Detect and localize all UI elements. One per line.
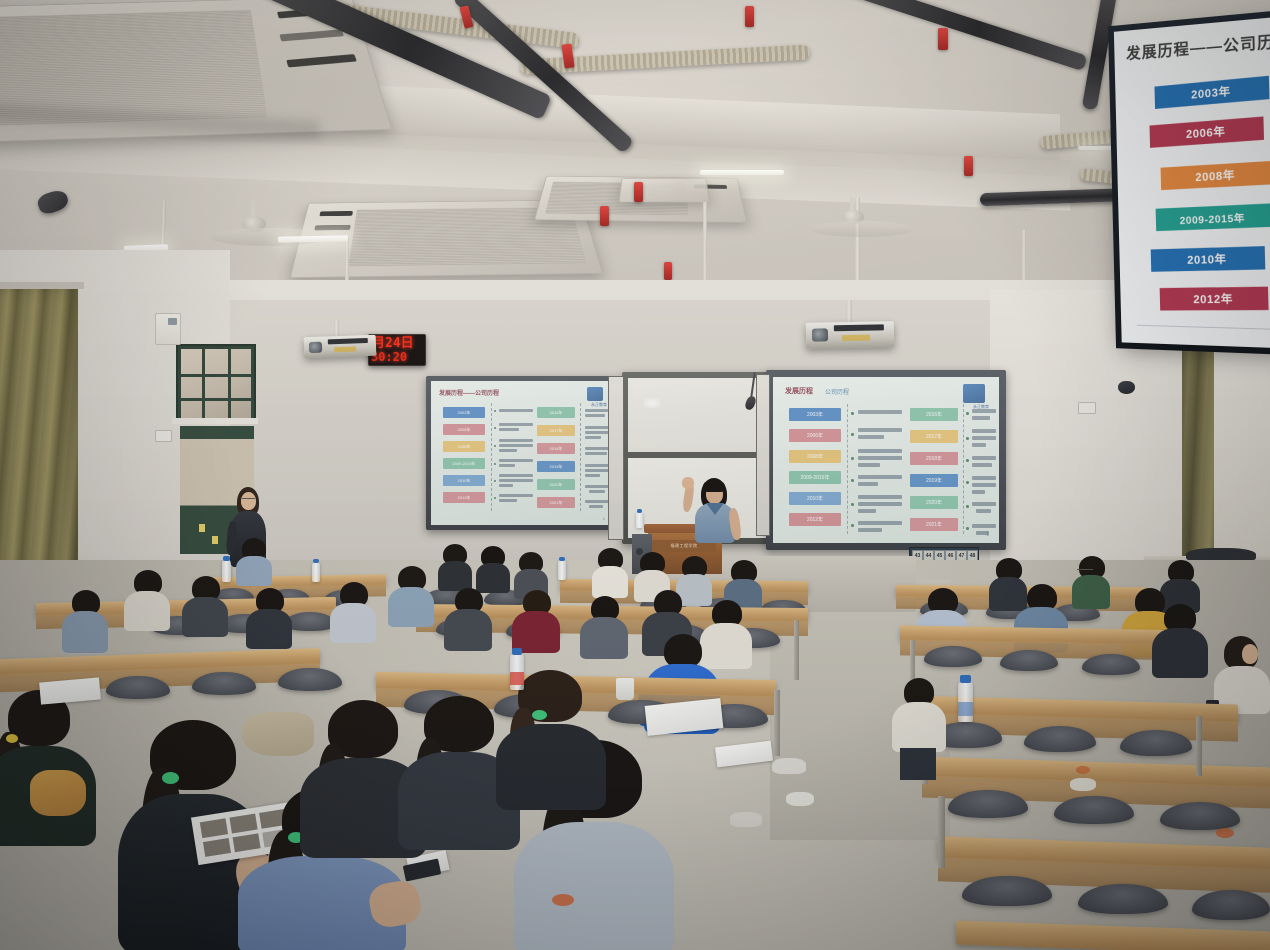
left-bullet-1b <box>499 428 519 431</box>
right-chip-1: 2006年 <box>789 429 841 442</box>
tv-slide: 发展历程——公司历 2003年 2006年 2008年 2009-2015年 2… <box>1114 17 1270 349</box>
student-mid-3 <box>182 576 228 634</box>
left-slide-title: 发展历程——公司历程 <box>439 388 499 397</box>
right-bullet-5a <box>858 521 902 525</box>
student-mid-2 <box>124 570 170 628</box>
right-bullet-4a <box>858 495 902 499</box>
tv-slide-title: 发展历程——公司历 <box>1126 30 1270 64</box>
left-bullet-5b <box>499 499 517 502</box>
right-rtext-3a <box>972 476 996 480</box>
student-mid-1 <box>62 590 108 650</box>
left-slide-logo-label: 永正教育 <box>591 402 607 408</box>
right-slide-rchip-3: 2019年 <box>910 474 958 487</box>
pipe-clamp-3 <box>600 206 609 226</box>
ceiling-ac-unit-rear-right <box>618 178 709 202</box>
paper-cup-center[interactable] <box>616 678 634 700</box>
whiteboard-glare <box>644 398 660 408</box>
right-bullet-dot-4 <box>851 503 854 506</box>
left-rtext-4b <box>589 490 605 493</box>
left-slide-rchip-5: 2021年 <box>537 497 575 508</box>
left-rtext-2b <box>585 452 607 455</box>
right-bullet-2b <box>858 456 902 460</box>
window-right-rear <box>1214 330 1270 580</box>
projector-right-mount <box>846 300 852 322</box>
tv-chip-3: 2009-2015年 <box>1156 204 1270 232</box>
led-time: 30:20 <box>371 351 407 363</box>
hair-tie-green-1 <box>162 772 179 784</box>
desk-leg-6 <box>1196 716 1202 776</box>
desk-leg-5 <box>774 690 780 756</box>
ceiling-light-right <box>700 170 784 175</box>
hair-tie-yellow-1 <box>6 734 18 743</box>
left-chip-5: 2012年 <box>443 492 485 503</box>
left-bullet-4c <box>499 484 513 487</box>
right-chip-3: 2009-2015年 <box>789 471 841 484</box>
right-rtext-5a <box>972 524 996 528</box>
wall-socket-left[interactable] <box>155 430 172 442</box>
left-chip-0: 2003年 <box>443 407 485 418</box>
right-chip-0: 2003年 <box>789 408 841 421</box>
bag-orange-left <box>30 770 86 816</box>
water-bottle-left-wall[interactable] <box>222 560 231 582</box>
seat-mid-8 <box>924 646 982 667</box>
right-bullet-dot-3 <box>851 479 854 482</box>
left-bullet-dot-2 <box>494 445 496 447</box>
right-bullet-0 <box>858 410 902 414</box>
whiteboard-center-upper[interactable] <box>628 378 768 452</box>
left-bullet-0 <box>499 409 533 412</box>
tv-slide-footer-line <box>1137 325 1270 330</box>
right-bullet-3b <box>858 482 878 486</box>
tv-chip-1: 2006年 <box>1150 117 1265 148</box>
right-slide-rchip-1: 2017年 <box>910 430 958 443</box>
right-slide-rchip-4: 2020年 <box>910 496 958 509</box>
sticky-note-2 <box>212 536 218 544</box>
left-bullet-5a <box>499 494 533 497</box>
ceiling-fan-center <box>816 196 912 250</box>
student-mid-8 <box>512 590 560 650</box>
water-bottle-right[interactable] <box>958 682 973 722</box>
right-rtext-dot-3 <box>966 481 969 484</box>
wall-socket-right[interactable] <box>1078 402 1096 414</box>
right-slide-subtitle: 公司历程 <box>825 387 849 396</box>
curtain-rail-left <box>0 282 84 289</box>
right-slide-logo-icon <box>963 384 985 403</box>
projector-right <box>806 321 894 349</box>
right-rtext-dot-0 <box>966 412 969 415</box>
panel-button[interactable] <box>168 318 177 325</box>
desk-leg-3 <box>938 796 945 868</box>
left-slide-rchip-2: 2018年 <box>537 443 575 454</box>
left-slide-rchip-3: 2019年 <box>537 461 575 472</box>
pipe-clamp-7 <box>938 28 948 50</box>
left-bullet-dot-3 <box>494 463 496 465</box>
classroom-photo: 月24日 30:20 发展历程——公司历 2003年 2006年 2008年 2… <box>0 0 1270 950</box>
right-rtext-2b <box>972 463 992 467</box>
tissue-on-floor-2 <box>1070 778 1096 791</box>
left-rtext-5b <box>589 505 603 508</box>
right-bullet-1a <box>858 428 902 432</box>
wall-control-panel[interactable] <box>155 313 181 345</box>
projector-left <box>304 335 377 359</box>
desk-leg-4 <box>794 620 799 680</box>
left-slide: 发展历程——公司历程 永正教育 2003年 2006年 2008年 2009-2… <box>431 381 613 525</box>
led-date: 月24日 <box>372 337 414 350</box>
left-slide-page-marker: 1 <box>603 516 605 521</box>
student-right-2 <box>1072 556 1110 606</box>
student-front-8 <box>1152 604 1208 674</box>
seat-front-r3-2 <box>1078 884 1168 914</box>
projection-screen-right[interactable]: 发展历程 公司历程 永正教育 2003年 2006年 2008年 2009-20… <box>773 377 999 543</box>
right-slide-rchip-0: 2016年 <box>910 408 958 421</box>
ceiling-light-center <box>278 235 348 242</box>
right-bullet-1b <box>858 435 884 439</box>
left-bullet-dot-5 <box>494 497 496 499</box>
student-back-2 <box>438 544 472 588</box>
seat-front-3 <box>278 668 342 691</box>
student-back-3 <box>476 546 510 590</box>
student-right-aisle <box>892 678 946 788</box>
podium-water-bottle <box>636 512 643 528</box>
right-rtext-1b <box>972 436 996 440</box>
right-rtext-4a <box>972 502 996 506</box>
left-bullet-2c <box>499 449 517 452</box>
left-rtext-0b <box>585 414 605 417</box>
tv-panel-bezel: 发展历程——公司历 2003年 2006年 2008年 2009-2015年 2… <box>1108 10 1270 356</box>
right-bullet-4c <box>858 509 876 513</box>
left-bullet-4b <box>499 479 533 482</box>
tv-panel-screen[interactable]: 发展历程——公司历 2003年 2006年 2008年 2009-2015年 2… <box>1114 17 1270 349</box>
right-chip-4: 2010年 <box>789 492 841 505</box>
water-bottle-podium-side[interactable] <box>312 562 320 582</box>
led-clock-display: 月24日 30:20 <box>368 334 426 366</box>
right-rtext-2a <box>972 456 996 460</box>
assistant-glasses-icon <box>242 498 255 502</box>
student-mid-5 <box>330 582 376 640</box>
right-rtext-dot-1 <box>966 437 969 440</box>
seat-front-2 <box>192 672 256 695</box>
orange-marking-desk-2 <box>1216 828 1234 838</box>
tissue-on-floor <box>786 792 814 806</box>
right-bullet-dot-0 <box>851 412 854 415</box>
left-bullet-2b <box>499 444 533 447</box>
left-bullet-dot-0 <box>494 410 496 412</box>
pipe-clamp-4 <box>634 182 643 202</box>
right-slide-rchip-2: 2018年 <box>910 452 958 465</box>
left-bullet-3a <box>499 459 533 462</box>
student-back-5 <box>592 548 628 594</box>
projection-screen-left-frame: 发展历程——公司历程 永正教育 2003年 2006年 2008年 2009-2… <box>426 376 618 530</box>
left-rtext-3c <box>585 474 600 477</box>
tv-chip-2: 2008年 <box>1161 161 1270 190</box>
seat-front-r3-1 <box>962 876 1052 906</box>
right-chip-2: 2008年 <box>789 450 841 463</box>
tv-chip-4: 2010年 <box>1151 246 1266 272</box>
side-board-right <box>756 374 770 536</box>
right-rtext-1a <box>972 429 996 433</box>
seat-mid-9 <box>1000 650 1058 671</box>
left-bullet-2a <box>499 439 533 442</box>
water-bottle-center[interactable] <box>510 654 524 690</box>
seat-front-10 <box>1120 730 1192 756</box>
left-bullet-dot-4 <box>494 480 496 482</box>
right-rtext-4b <box>976 509 991 513</box>
right-bullet-dot-5 <box>851 524 854 527</box>
pipe-clamp-6 <box>745 6 754 27</box>
student-right-2-glasses-icon <box>1077 569 1093 573</box>
pipe-clamp-5 <box>664 262 672 280</box>
left-slide-rchip-1: 2017年 <box>537 425 575 436</box>
right-rtext-dot-4 <box>966 505 969 508</box>
right-bullet-3a <box>858 475 902 479</box>
right-slide-page-marker: 1 <box>986 532 989 538</box>
left-bullet-4a <box>499 474 533 477</box>
student-front-1 <box>0 690 96 840</box>
pipe-clamp-10 <box>964 156 973 176</box>
right-rtext-0b <box>972 416 990 420</box>
window-left <box>176 344 256 424</box>
left-slide-logo-icon <box>587 387 603 401</box>
student-mid-4 <box>246 588 292 646</box>
left-rtext-1c <box>585 436 601 439</box>
left-chip-3: 2009-2015年 <box>443 458 485 469</box>
sneaker-right <box>772 758 806 774</box>
ceiling-fan-left <box>218 200 328 260</box>
left-slide-divider-2 <box>580 403 581 511</box>
sneaker-left <box>730 812 762 827</box>
seat-front-r2-1 <box>948 790 1028 818</box>
student-right-7 <box>1214 636 1270 712</box>
right-rtext-1c <box>972 443 986 447</box>
orange-marking-desk-1 <box>552 894 574 906</box>
bag-beige-center <box>242 712 314 756</box>
hair-tie-green-3 <box>532 710 547 720</box>
right-rtext-0a <box>972 409 996 413</box>
student-mid-6 <box>388 566 434 624</box>
sticky-note-1 <box>199 524 205 532</box>
seat-front-r3-3 <box>1192 890 1270 920</box>
projection-screen-left[interactable]: 发展历程——公司历程 永正教育 2003年 2006年 2008年 2009-2… <box>431 381 613 525</box>
projection-screen-right-frame: 发展历程 公司历程 永正教育 2003年 2006年 2008年 2009-20… <box>766 370 1006 550</box>
right-slide: 发展历程 公司历程 永正教育 2003年 2006年 2008年 2009-20… <box>773 377 999 543</box>
right-bullet-5b <box>858 528 882 532</box>
right-slide-divider-2 <box>963 404 964 534</box>
right-bullet-dot-2 <box>851 457 854 460</box>
right-bullet-4b <box>858 502 902 506</box>
seat-front-r2-2 <box>1054 796 1134 824</box>
seat-front-r2-3 <box>1160 802 1240 830</box>
seat-front-1 <box>106 676 170 699</box>
right-bullet-2a <box>858 449 902 453</box>
left-bullet-1a <box>499 423 533 426</box>
left-bullet-dot-1 <box>494 427 496 429</box>
student-right-aisle-legs <box>900 748 936 780</box>
right-slide-rchip-5: 2021年 <box>910 518 958 531</box>
left-chip-4: 2010年 <box>443 475 485 486</box>
presenter-raised-hand <box>682 477 694 489</box>
left-slide-rchip-0: 2016年 <box>537 407 575 418</box>
left-slide-rchip-4: 2020年 <box>537 479 575 490</box>
seat-mid-10 <box>1082 654 1140 675</box>
presenter-hair-front <box>703 480 725 492</box>
security-camera <box>1118 381 1135 394</box>
tv-chip-5: 2012年 <box>1160 287 1269 311</box>
student-back-1 <box>236 538 272 582</box>
right-rtext-dot-2 <box>966 459 969 462</box>
water-bottle-far-center[interactable] <box>558 560 566 580</box>
podium-institution-text: 福建工程学院 <box>671 543 698 549</box>
student-mid-7 <box>444 588 492 648</box>
projector-left-mount <box>334 320 339 336</box>
left-chip-1: 2006年 <box>443 424 485 435</box>
seat-front-9 <box>1024 726 1096 752</box>
side-board-left <box>608 376 624 540</box>
orange-marking-desk-3 <box>1076 766 1090 774</box>
left-bullet-3b <box>499 464 515 467</box>
window-sill-left <box>172 418 258 424</box>
right-slide-title: 发展历程 <box>785 386 813 396</box>
right-slide-divider-1 <box>847 404 848 534</box>
left-slide-divider-1 <box>491 403 492 511</box>
right-chip-5: 2012年 <box>789 513 841 526</box>
right-rtext-dot-5 <box>966 527 969 530</box>
right-bullet-dot-1 <box>851 433 854 436</box>
presenter-at-podium <box>676 478 748 542</box>
student-mid-9 <box>580 596 628 656</box>
left-chip-2: 2008年 <box>443 441 485 452</box>
right-rtext-3c <box>972 490 985 494</box>
right-bullet-2c <box>858 463 880 467</box>
tv-chip-0: 2003年 <box>1154 76 1269 109</box>
right-rtext-3b <box>972 483 996 487</box>
